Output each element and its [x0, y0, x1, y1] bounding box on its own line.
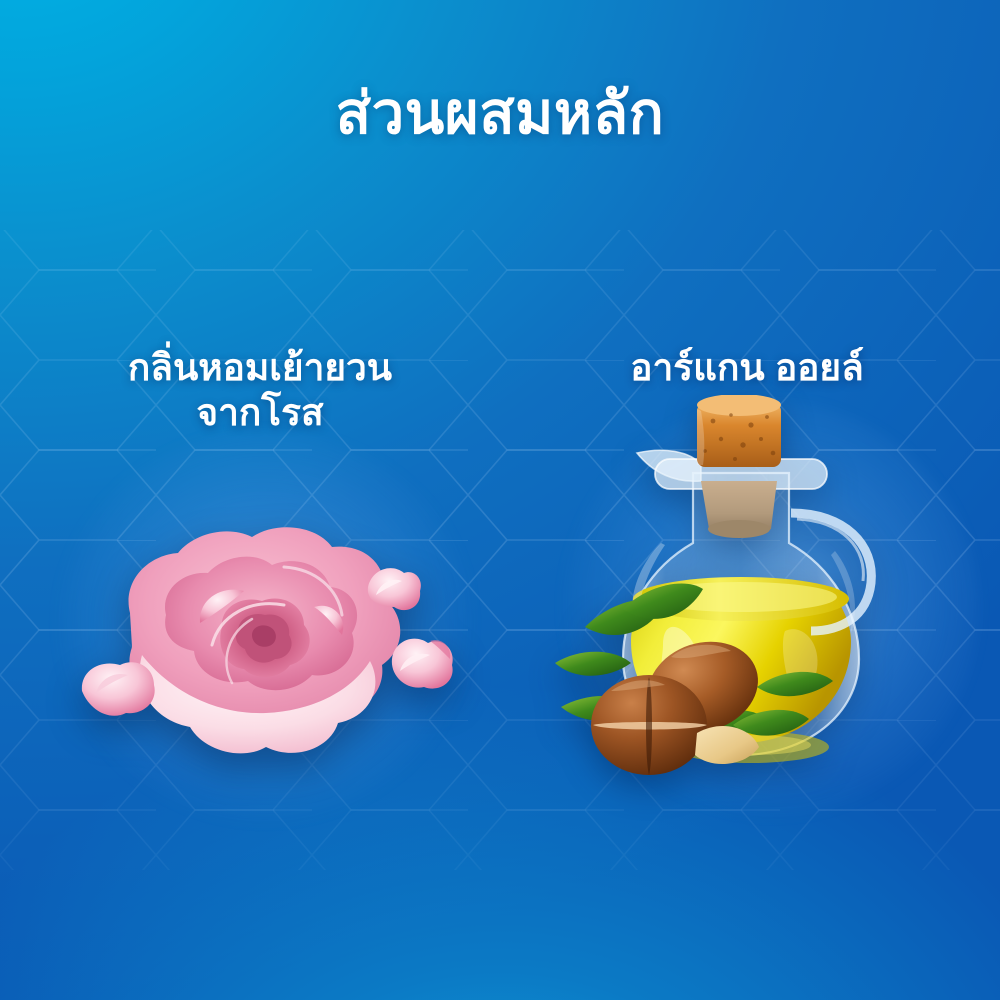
ingredients-slide: ส่วนผสมหลัก กลิ่นหอมเย้ายวน จากโรส อาร์แ… [0, 0, 1000, 1000]
ingredient-label-argan-oil-line1: อาร์แกน ออยล์ [512, 345, 982, 390]
ingredient-label-argan-oil: อาร์แกน ออยล์ [512, 345, 982, 390]
rose-image [70, 495, 470, 785]
ingredient-label-rose: กลิ่นหอมเย้ายวน จากโรส [30, 345, 490, 435]
rose-petal-right [392, 639, 453, 689]
page-title: ส่วนผสมหลัก [0, 82, 1000, 147]
rose-petal-left [82, 662, 155, 716]
ingredient-label-rose-line2: จากโรส [30, 390, 490, 435]
argan-oil-image [545, 395, 945, 795]
ingredient-label-rose-line1: กลิ่นหอมเย้ายวน [30, 345, 490, 390]
